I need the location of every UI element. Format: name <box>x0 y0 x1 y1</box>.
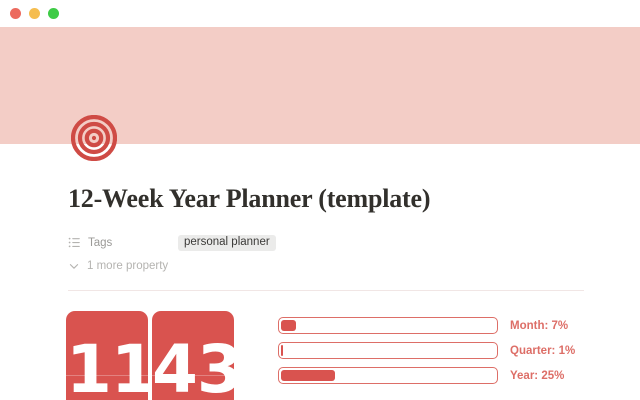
progress-track-year <box>278 367 498 384</box>
page-title[interactable]: 12-Week Year Planner (template) <box>68 144 584 214</box>
flip-card: 11 <box>66 311 148 400</box>
property-row-tags[interactable]: Tags personal planner <box>68 232 584 254</box>
flip-card-value: 11 <box>66 337 148 400</box>
progress-bars: Month: 7% Quarter: 1% Year: 25% <box>278 317 598 392</box>
content-divider <box>68 290 584 291</box>
more-properties-label: 1 more property <box>87 260 168 272</box>
flip-card-hinge <box>152 375 234 376</box>
property-key-tags[interactable]: Tags <box>68 236 178 249</box>
progress-label-quarter: Quarter: 1% <box>510 345 575 357</box>
window-controls <box>10 8 59 19</box>
tag-pill[interactable]: personal planner <box>178 235 276 252</box>
progress-fill-year <box>281 370 335 381</box>
countdown-flip-clock: 11 43 <box>66 311 234 400</box>
flip-card-hinge <box>66 375 148 376</box>
property-label-tags: Tags <box>88 237 112 249</box>
dashboard-section: 11 43 Month: 7% Quarter: 1% <box>0 304 640 400</box>
progress-fill-quarter <box>281 345 283 356</box>
list-icon <box>68 236 81 249</box>
flip-card-value: 43 <box>152 337 234 400</box>
maximize-window-button[interactable] <box>48 8 59 19</box>
chevron-down-icon <box>68 260 80 272</box>
progress-label-year: Year: 25% <box>510 370 564 382</box>
close-window-button[interactable] <box>10 8 21 19</box>
page-properties: Tags personal planner 1 more property <box>68 232 584 272</box>
flip-card: 43 <box>152 311 234 400</box>
app-window: 12-Week Year Planner (template) <box>0 0 640 400</box>
progress-track-quarter <box>278 342 498 359</box>
progress-row-month: Month: 7% <box>278 317 598 334</box>
progress-row-quarter: Quarter: 1% <box>278 342 598 359</box>
more-properties-toggle[interactable]: 1 more property <box>68 260 584 272</box>
progress-track-month <box>278 317 498 334</box>
window-titlebar <box>0 0 640 27</box>
progress-row-year: Year: 25% <box>278 367 598 384</box>
minimize-window-button[interactable] <box>29 8 40 19</box>
progress-label-month: Month: 7% <box>510 320 568 332</box>
page-content: 12-Week Year Planner (template) <box>0 144 640 291</box>
property-value-tags[interactable]: personal planner <box>178 235 276 252</box>
progress-fill-month <box>281 320 296 331</box>
